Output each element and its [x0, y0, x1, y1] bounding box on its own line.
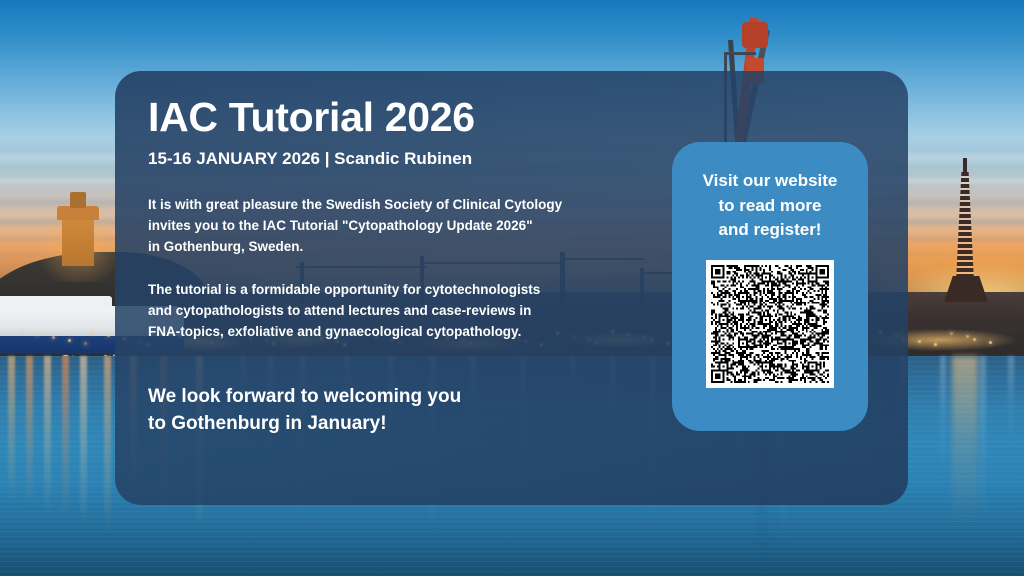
qr-heading-line: Visit our website: [672, 169, 868, 194]
paragraph-line: invites you to the IAC Tutorial "Cytopat…: [148, 216, 618, 237]
description-paragraph: The tutorial is a formidable opportunity…: [148, 280, 618, 343]
poster-content: IAC Tutorial 2026 15-16 JANUARY 2026 | S…: [148, 96, 618, 438]
event-subtitle: 15-16 JANUARY 2026 | Scandic Rubinen: [148, 149, 618, 169]
poster-canvas: Stena Line IAC Tutorial 2026 15-16 JANUA…: [0, 0, 1024, 576]
shipyard-crane-icon: [944, 172, 988, 302]
paragraph-line: The tutorial is a formidable opportunity…: [148, 280, 618, 301]
qr-code-icon[interactable]: [706, 260, 834, 388]
qr-heading-line: to read more: [672, 194, 868, 219]
paragraph-line: FNA-topics, exfoliative and gynaecologic…: [148, 322, 618, 343]
paragraph-line: It is with great pleasure the Swedish So…: [148, 195, 618, 216]
intro-paragraph: It is with great pleasure the Swedish So…: [148, 195, 618, 258]
closing-line: We look forward to welcoming you: [148, 383, 618, 411]
qr-heading-line: and register!: [672, 218, 868, 243]
closing-line: to Gothenburg in January!: [148, 410, 618, 438]
page-title: IAC Tutorial 2026: [148, 96, 618, 139]
paragraph-line: in Gothenburg, Sweden.: [148, 237, 618, 258]
qr-card[interactable]: Visit our website to read more and regis…: [672, 142, 868, 431]
qr-card-heading: Visit our website to read more and regis…: [672, 169, 868, 243]
masthugget-tower-icon: [62, 218, 94, 266]
paragraph-line: and cytopathologists to attend lectures …: [148, 301, 618, 322]
closing-message: We look forward to welcoming you to Goth…: [148, 383, 618, 438]
